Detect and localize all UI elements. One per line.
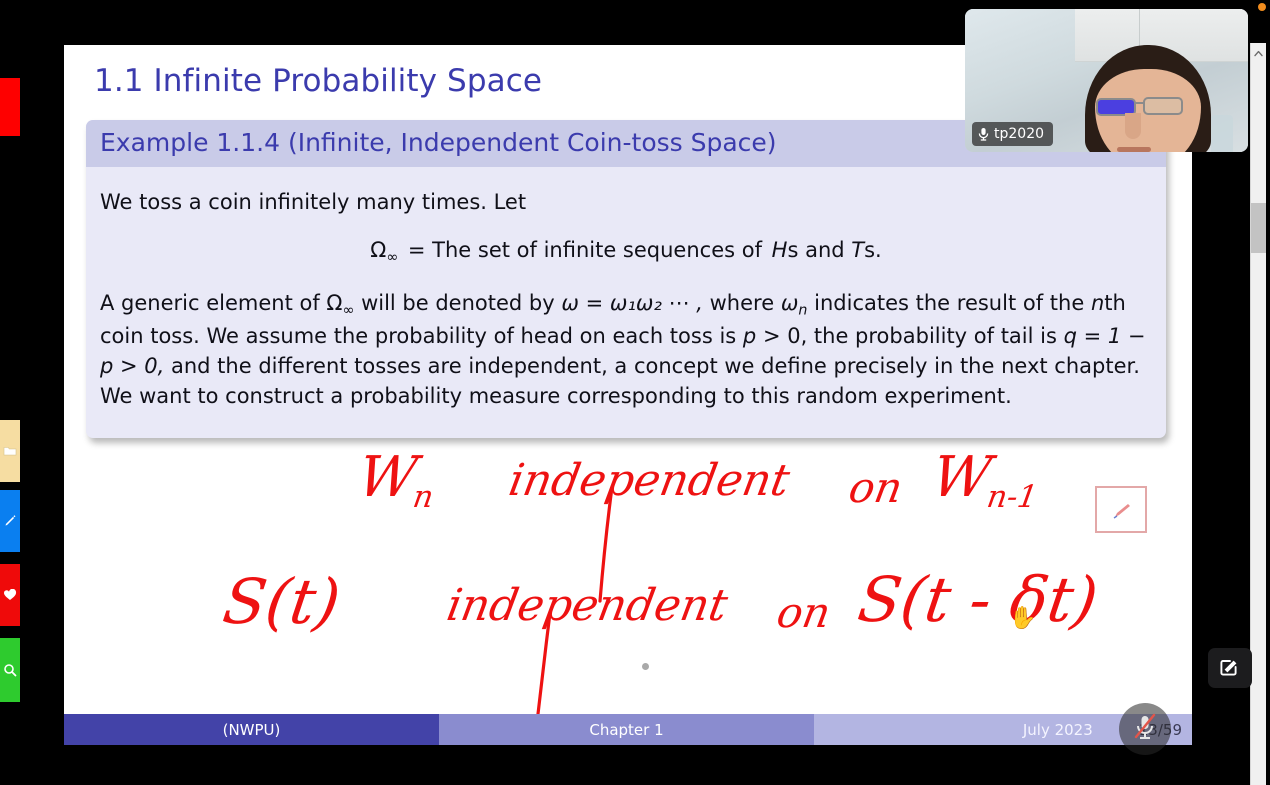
p2-part-c: where xyxy=(710,291,775,315)
pen-cursor-icon xyxy=(1112,503,1134,525)
participant-name-badge: tp2020 xyxy=(972,122,1053,146)
mic-muted-badge[interactable] xyxy=(1119,703,1171,755)
ink-stroke-descender-1 xyxy=(594,485,634,605)
microphone-muted-icon xyxy=(1131,712,1159,746)
participant-name: tp2020 xyxy=(994,126,1044,142)
webcam-glasses-right xyxy=(1143,97,1183,115)
footer-institution: (NWPU) xyxy=(64,714,439,745)
pen-icon xyxy=(3,514,17,528)
ink-independent-2: independent xyxy=(443,580,731,631)
equation-rest: = The set of infinite sequences of xyxy=(408,238,762,262)
chevron-up-icon xyxy=(1254,42,1263,61)
equation-mid: s and xyxy=(787,238,844,262)
slide-title: 1.1 Infinite Probability Space xyxy=(94,63,542,99)
footer-date: July 2023 xyxy=(1023,721,1093,739)
toolbar-item-red-tool[interactable] xyxy=(0,78,20,136)
footer-chapter: Chapter 1 xyxy=(439,714,814,745)
ink-w-n: Wn xyxy=(353,445,441,515)
symbol-H: H xyxy=(772,238,788,262)
ink-on-2: on xyxy=(773,588,834,637)
p2-part-b: will be denoted by xyxy=(361,291,555,315)
example-display-equation: Ω∞ = The set of infinite sequences of Hs… xyxy=(100,235,1152,268)
ink-on-1: on xyxy=(845,463,906,512)
ink-independent-1: independent xyxy=(505,455,793,506)
hand-cursor-icon: ✋ xyxy=(1009,608,1036,630)
slide-footer: (NWPU) Chapter 1 July 2023 13/59 xyxy=(64,714,1192,745)
example-block: Example 1.1.4 (Infinite, Independent Coi… xyxy=(86,120,1166,438)
omega-symbol: Ω xyxy=(370,238,386,262)
p2-omega-n-sub: n xyxy=(798,302,807,318)
webcam-pip[interactable]: tp2020 xyxy=(965,9,1248,152)
toolbar-item-favorite-tool[interactable] xyxy=(0,564,20,626)
toolbar-item-pen-tool[interactable] xyxy=(0,490,20,552)
p2-part-a: A generic element of xyxy=(100,291,320,315)
toolbar-item-folder-tool[interactable] xyxy=(0,420,20,482)
p2-n: n xyxy=(1091,291,1104,315)
left-tool-rail xyxy=(0,0,20,785)
screen-root: 1.1 Infinite Probability Space Example 1… xyxy=(0,0,1270,785)
ink-w-n-minus-1: Wn-1 xyxy=(927,445,1045,515)
p2-part-f: > 0, the probability of tail is xyxy=(763,324,1057,348)
vertical-scrollbar[interactable] xyxy=(1250,43,1266,785)
magnifier-icon xyxy=(3,663,17,677)
scroll-up-button[interactable] xyxy=(1251,43,1266,59)
p2-p: p xyxy=(743,324,756,348)
folder-icon xyxy=(3,445,17,457)
toolbar-item-search-tool[interactable] xyxy=(0,638,20,702)
microphone-icon xyxy=(978,127,989,141)
ink-s-of-t-minus-dt: S(t - δt) xyxy=(854,563,1103,636)
heart-icon xyxy=(3,589,17,601)
p2-part-d: indicates the result of the xyxy=(814,291,1084,315)
p2-omega-sequence: ω = ω₁ω₂ ⋯ , xyxy=(561,291,703,315)
pen-cursor-preview-box[interactable] xyxy=(1095,486,1147,533)
webcam-mouth xyxy=(1117,147,1151,152)
laser-pointer-dot xyxy=(642,663,649,670)
webcam-bottle xyxy=(1211,115,1233,152)
orange-status-dot xyxy=(1258,3,1266,11)
p2-omega: Ω xyxy=(326,291,342,315)
omega-subscript-infinity: ∞ xyxy=(386,250,398,266)
example-paragraph-1: We toss a coin infinitely many times. Le… xyxy=(100,187,1152,217)
example-paragraph-2: A generic element of Ω∞ will be denoted … xyxy=(100,288,1152,412)
webcam-nose xyxy=(1125,113,1141,139)
symbol-T: T xyxy=(851,238,864,262)
p2-omega-n: ω xyxy=(781,291,799,315)
webcam-glasses-bridge xyxy=(1135,102,1145,104)
p2-part-g: and the different tosses are independent… xyxy=(100,354,1140,408)
annotate-pen-box-icon xyxy=(1218,657,1242,679)
equation-tail: s. xyxy=(864,238,882,262)
ink-s-of-t: S(t) xyxy=(219,565,345,638)
scrollbar-thumb[interactable] xyxy=(1251,203,1266,253)
annotate-toggle-button[interactable] xyxy=(1208,648,1252,688)
p2-omega-sub: ∞ xyxy=(342,302,354,318)
example-body: We toss a coin infinitely many times. Le… xyxy=(86,167,1166,438)
